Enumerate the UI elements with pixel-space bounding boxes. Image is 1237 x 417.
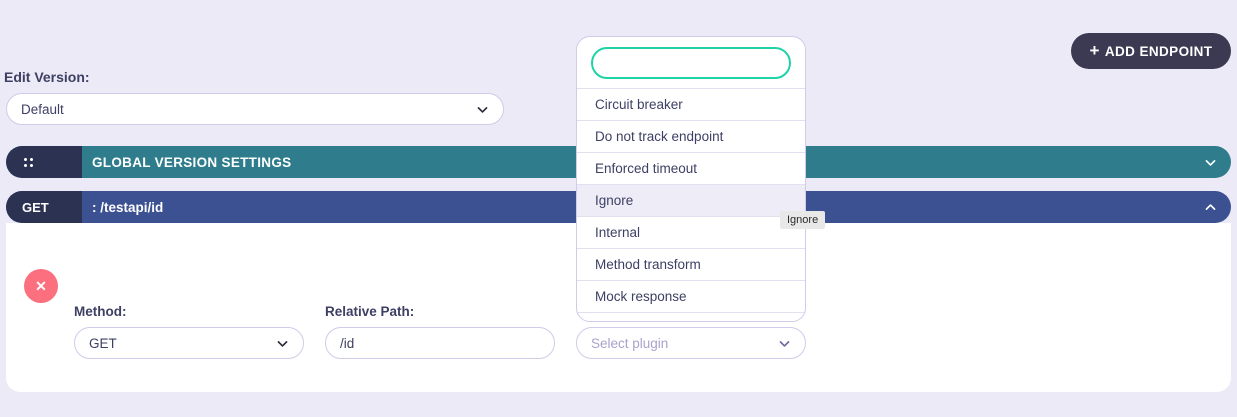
endpoint-collapse-toggle[interactable]: [1189, 201, 1231, 214]
chevron-down-icon: [476, 103, 489, 116]
plugin-option-tooltip: Ignore: [780, 211, 825, 229]
method-select[interactable]: GET: [74, 327, 304, 359]
plugin-option[interactable]: Do not track endpoint: [577, 120, 805, 152]
plugin-option[interactable]: Internal: [577, 216, 805, 248]
endpoint-method-badge: GET: [6, 191, 82, 223]
plugin-dropdown-menu: Circuit breaker Do not track endpoint En…: [576, 36, 806, 322]
chevron-down-icon: [276, 337, 289, 350]
add-endpoint-button[interactable]: + ADD ENDPOINT: [1071, 33, 1231, 69]
global-collapse-toggle[interactable]: [1189, 156, 1231, 169]
remove-endpoint-button[interactable]: ✕: [24, 269, 58, 303]
relative-path-value: /id: [340, 336, 540, 351]
plugin-option[interactable]: Method transform: [577, 248, 805, 280]
chevron-down-icon: [778, 337, 791, 350]
chevron-up-icon: [1204, 201, 1217, 214]
plugin-search-wrapper: [577, 37, 805, 88]
plugin-select-placeholder: Select plugin: [591, 336, 778, 351]
plugin-option-ignore[interactable]: Ignore: [577, 184, 805, 216]
add-endpoint-label: ADD ENDPOINT: [1105, 44, 1213, 59]
plugin-option-list: Circuit breaker Do not track endpoint En…: [577, 88, 805, 322]
close-icon: ✕: [35, 279, 47, 293]
relative-path-input[interactable]: /id: [325, 327, 555, 359]
version-select-value: Default: [21, 102, 476, 117]
method-label: Method:: [74, 304, 126, 319]
drag-handle-icon[interactable]: [6, 146, 82, 178]
plugin-search-input[interactable]: [591, 47, 791, 79]
plugin-option[interactable]: Modify headers: [577, 312, 805, 322]
plugin-option[interactable]: Mock response: [577, 280, 805, 312]
plus-icon: +: [1090, 42, 1100, 59]
plugin-option[interactable]: Enforced timeout: [577, 152, 805, 184]
method-select-value: GET: [89, 336, 276, 351]
relative-path-label: Relative Path:: [325, 304, 414, 319]
plugin-option[interactable]: Circuit breaker: [577, 88, 805, 120]
plugin-select[interactable]: Select plugin: [576, 327, 806, 359]
chevron-down-icon: [1204, 156, 1217, 169]
version-select[interactable]: Default: [6, 93, 504, 125]
edit-version-label: Edit Version:: [4, 69, 90, 85]
